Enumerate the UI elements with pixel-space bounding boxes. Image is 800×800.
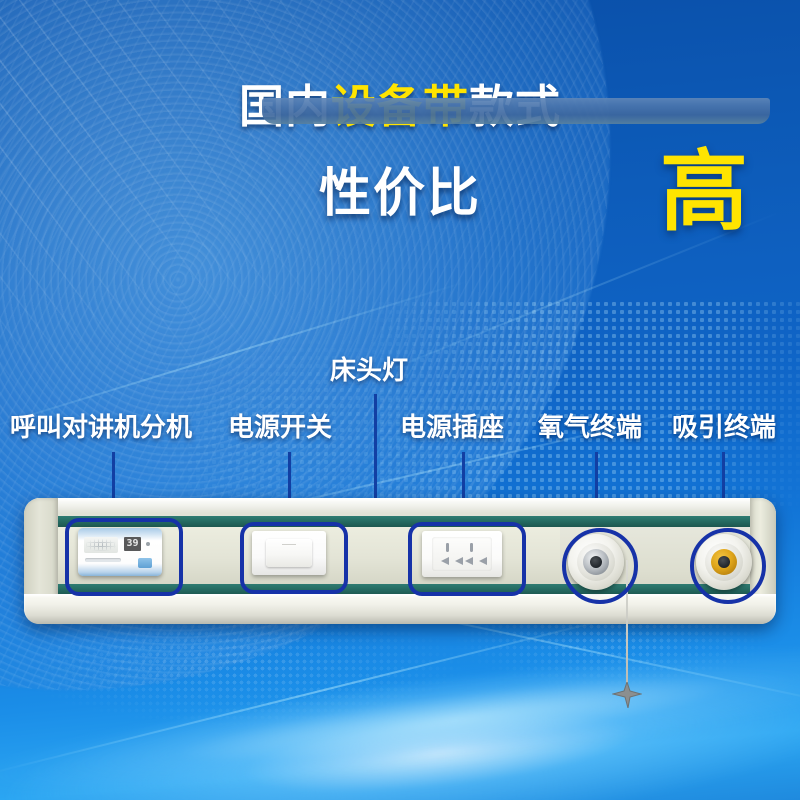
banner-stage: 国内设备带款式 性价比 高 呼叫对讲机分机 电源开关 床头灯 电源插座 氧气终端… [0, 0, 800, 800]
callout-label-bed-light: 床头灯 [330, 358, 408, 384]
panel-rail-blue-insert [262, 98, 770, 124]
callout-label-power-socket: 电源插座 [400, 415, 504, 441]
highlight-box-switch [240, 522, 348, 594]
callout-label-intercom: 呼叫对讲机分机 [10, 415, 192, 441]
callout-label-suction: 吸引终端 [672, 415, 776, 441]
highlight-circle-suction [690, 528, 766, 604]
panel-top-highlight [24, 498, 776, 514]
highlight-circle-oxygen [562, 528, 638, 604]
highlight-box-intercom [65, 518, 183, 596]
callout-label-power-switch: 电源开关 [228, 415, 332, 441]
panel-bottom-rail [24, 594, 776, 624]
callout-label-oxygen: 氧气终端 [538, 415, 642, 441]
highlight-character: 高 [660, 148, 748, 236]
highlight-box-socket [408, 522, 526, 596]
pull-cord-handle-icon[interactable] [612, 682, 642, 708]
